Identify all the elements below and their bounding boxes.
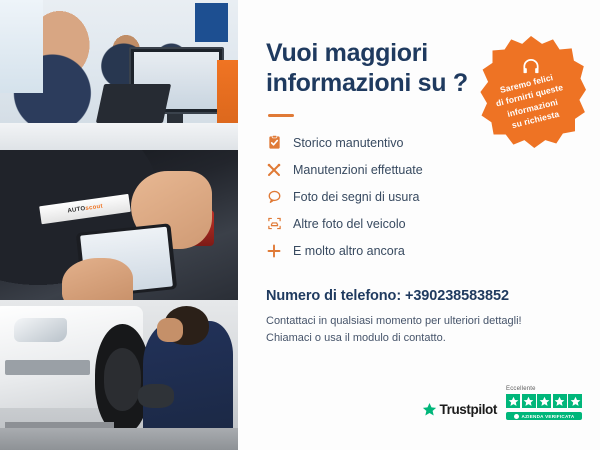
speech-bubble-icon xyxy=(266,189,282,205)
info-badge: Saremo felici di fornirti queste informa… xyxy=(476,36,586,148)
tyre xyxy=(95,324,150,435)
feature-item-more-photos: Altre foto del veicolo xyxy=(266,210,578,237)
headset-icon xyxy=(521,58,541,75)
star-5 xyxy=(568,394,582,408)
mechanic-face xyxy=(157,318,183,342)
star-1 xyxy=(506,394,520,408)
hand-lower xyxy=(62,258,133,300)
trustpilot-rating: Eccellente AZIENDA VERIFICATA xyxy=(506,386,582,420)
auto-label-sticker: AUTOscout xyxy=(40,193,132,223)
contact-subtext: Contattaci in qualsiasi momento per ulte… xyxy=(266,313,578,347)
star-2 xyxy=(522,394,536,408)
trustpilot-logo: Trustpilot xyxy=(422,402,498,420)
content-panel: Vuoi maggiori informazioni su ? Saremo f… xyxy=(238,0,600,450)
tools-cross-icon xyxy=(266,162,282,178)
star-4 xyxy=(553,394,567,408)
vehicle-inspection-photo: AUTOscout xyxy=(0,150,238,300)
title-divider xyxy=(268,114,294,117)
desk-surface xyxy=(0,123,238,150)
feature-item-wear-photos: Foto dei segni di usura xyxy=(266,183,578,210)
contact-subtext-line-2: Chiamaci o usa il modulo di contatto. xyxy=(266,330,578,347)
wall-banner xyxy=(195,3,228,42)
star-3 xyxy=(537,394,551,408)
badge-text: Saremo felici di fornirti queste informa… xyxy=(483,67,578,136)
advertisement-banner: AUTOscout Vuoi maggiori informazioni su … xyxy=(0,0,600,450)
feature-label: Altre foto del veicolo xyxy=(293,217,406,231)
feature-label: Manutenzioni effettuate xyxy=(293,163,423,177)
trustpilot-rating-label: Eccellente xyxy=(506,386,536,392)
verified-label: AZIENDA VERIFICATA xyxy=(522,414,575,419)
phone-number[interactable]: Numero di telefono: +390238583852 xyxy=(266,288,578,304)
laptop xyxy=(96,84,171,123)
feature-label: E molto altro ancora xyxy=(293,244,405,258)
front-grill xyxy=(5,360,91,375)
verified-badge: AZIENDA VERIFICATA xyxy=(506,412,582,420)
headlight xyxy=(14,318,66,342)
car-scan-icon xyxy=(266,216,282,232)
check-circle-icon xyxy=(514,414,519,419)
headline-line-2: informazioni su ? xyxy=(266,69,468,97)
call-center-photo xyxy=(0,0,238,150)
trustpilot-widget[interactable]: Trustpilot Eccellente AZIENDA VERIFICATA xyxy=(422,386,583,420)
headline-line-1: Vuoi maggiori xyxy=(266,39,428,67)
feature-label: Storico manutentivo xyxy=(293,136,403,150)
window-light xyxy=(0,0,43,93)
clipboard-check-icon xyxy=(266,135,282,151)
mechanic-wheel-photo xyxy=(0,300,238,450)
badge-content: Saremo felici di fornirti queste informa… xyxy=(476,36,586,148)
trustpilot-stars xyxy=(506,394,582,408)
workshop-floor xyxy=(0,428,238,450)
feature-item-much-more: E molto altro ancora xyxy=(266,237,578,264)
trustpilot-brand: Trustpilot xyxy=(440,402,498,417)
contact-subtext-line-1: Contattaci in qualsiasi momento per ulte… xyxy=(266,313,578,330)
feature-item-maintenance-done: Manutenzioni effettuate xyxy=(266,156,578,183)
feature-label: Foto dei segni di usura xyxy=(293,190,419,204)
trustpilot-star-icon xyxy=(422,402,437,417)
plus-icon xyxy=(266,243,282,259)
page-title: Vuoi maggiori informazioni su ? xyxy=(266,38,481,98)
photo-strip: AUTOscout xyxy=(0,0,238,450)
feature-list: Storico manutentivo Manutenzioni effettu… xyxy=(266,129,578,264)
mechanic-glove xyxy=(138,384,174,408)
